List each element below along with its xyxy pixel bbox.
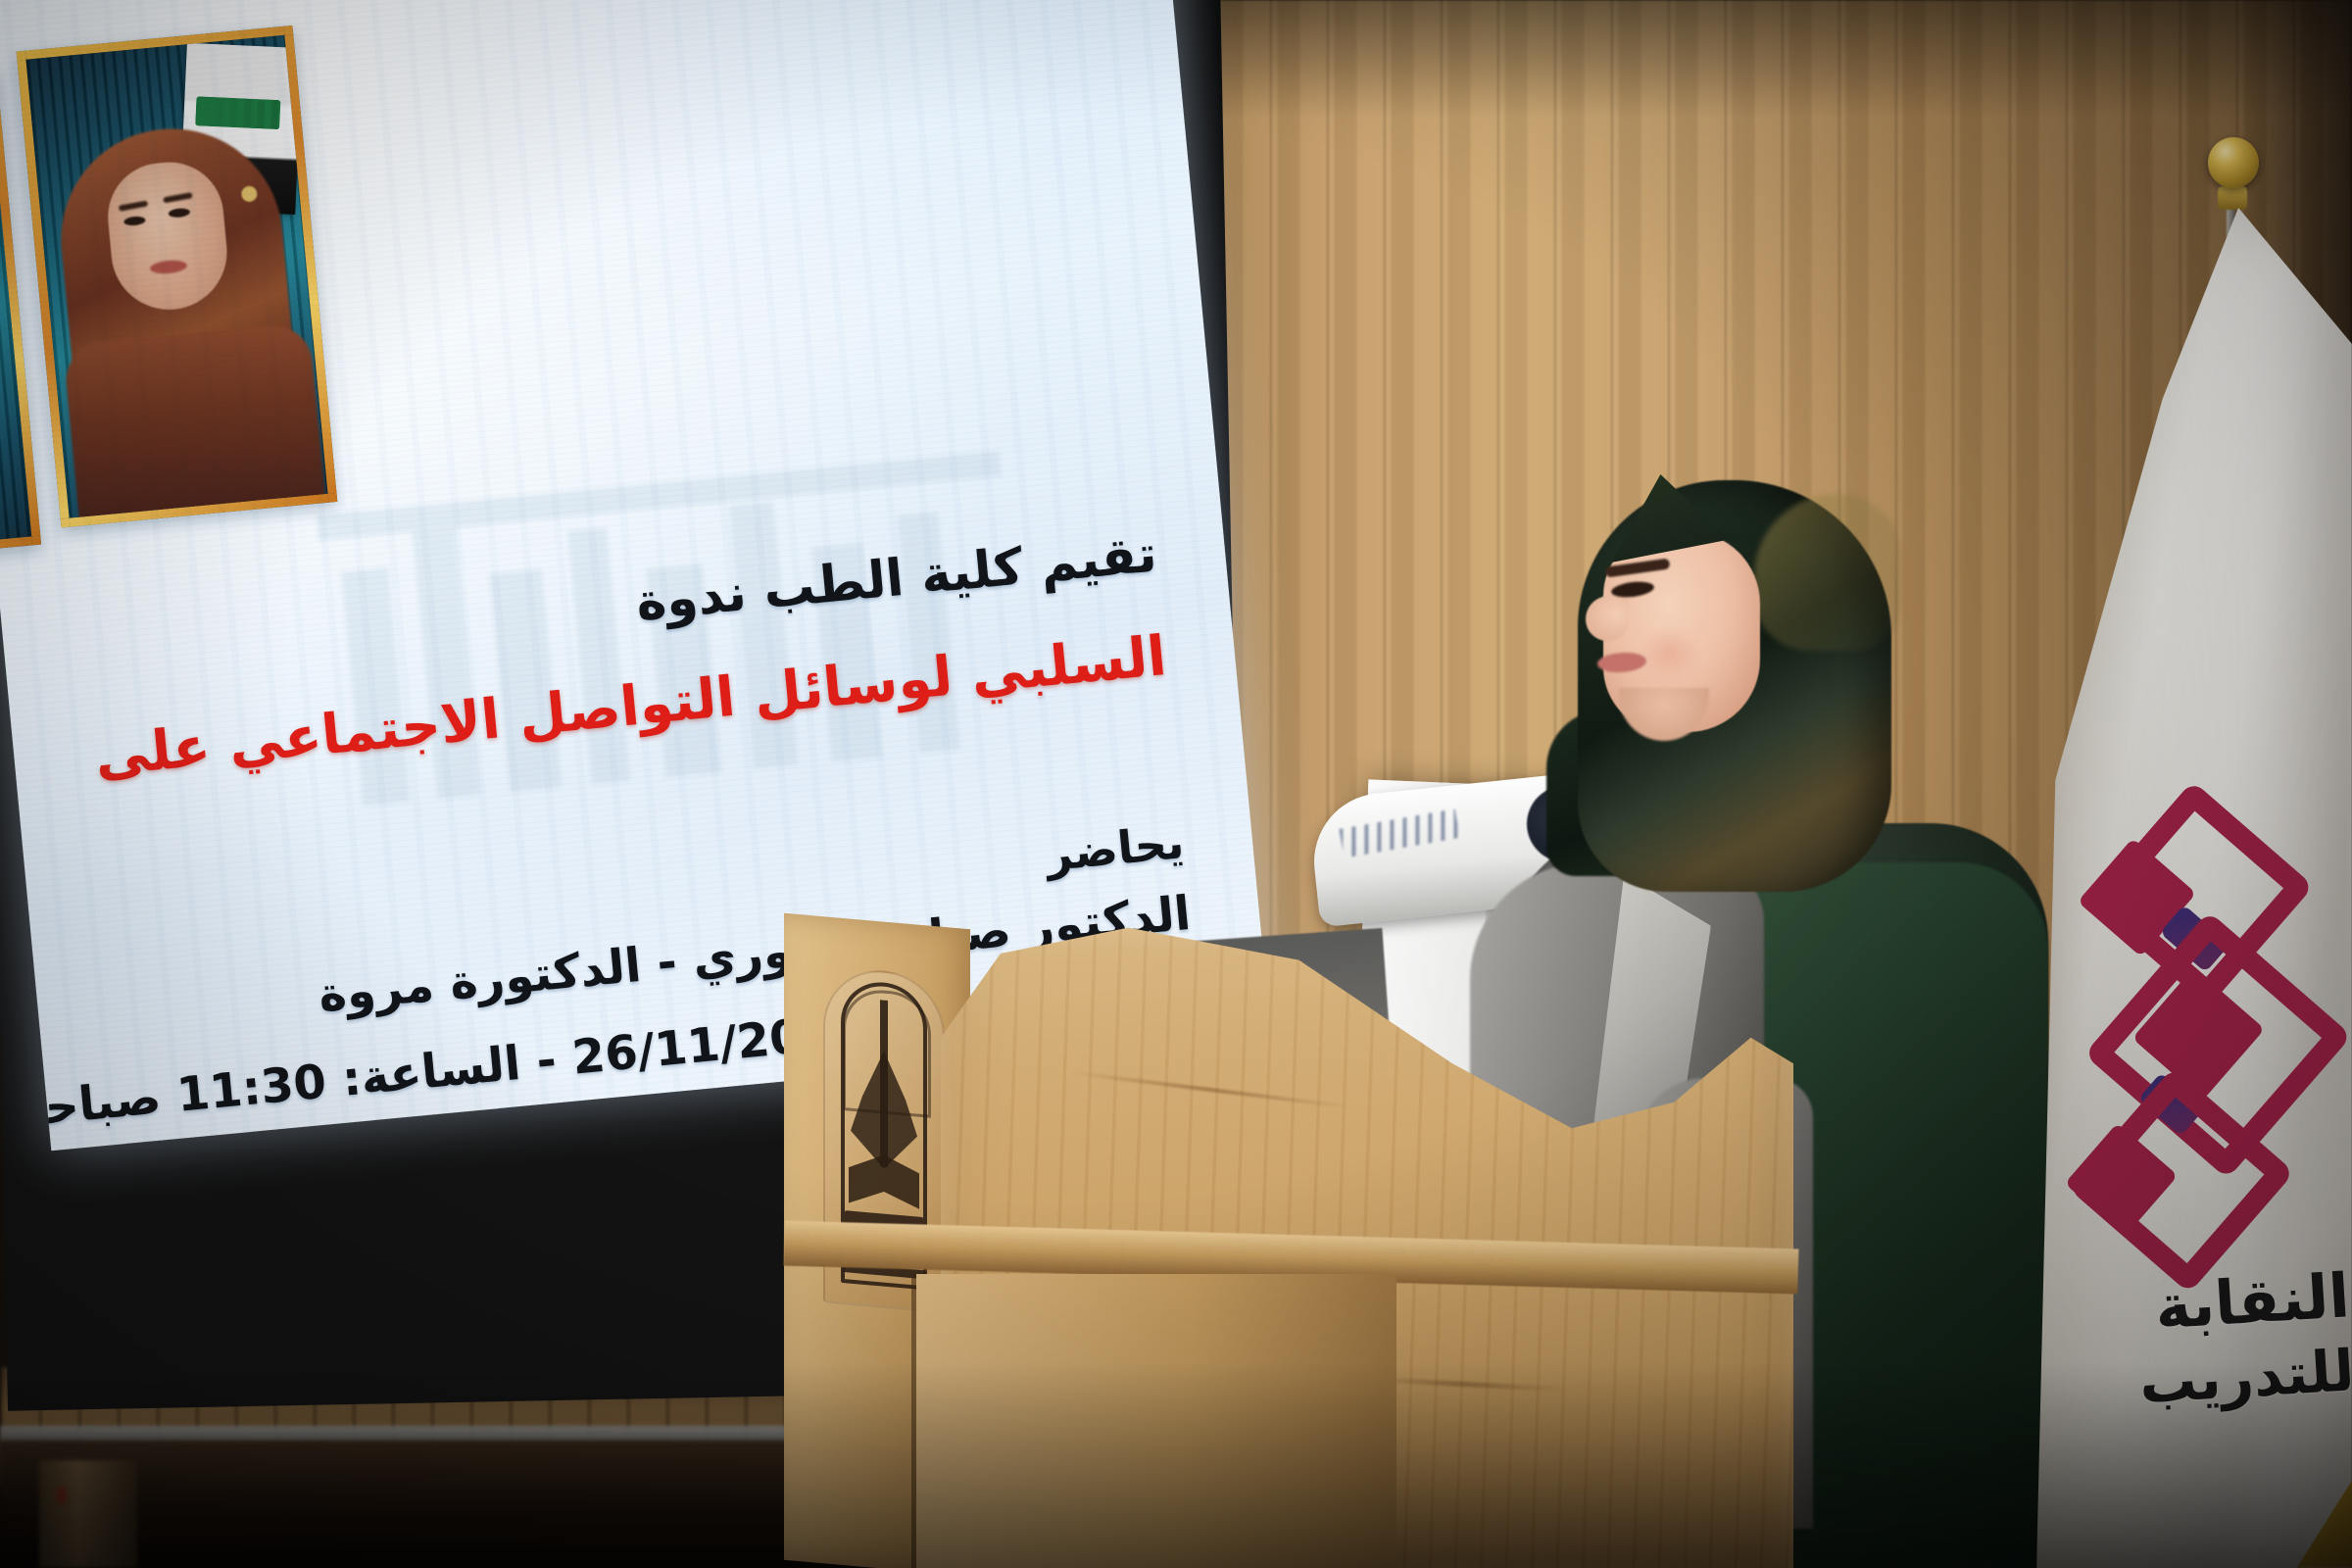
wall-top-shadow: [1156, 0, 2352, 118]
scene-root: السيد عميد كلية الطب الأنبياء (ع) الأستا…: [0, 0, 2352, 1568]
floor-equipment-box: [39, 1460, 137, 1568]
speaker-cheek: [1641, 627, 1699, 678]
syndicate-logo-icon: [2071, 796, 2344, 1233]
handwriting-marks: [1339, 808, 1459, 857]
banner-text-block: النقابة للتدريب: [2034, 1259, 2352, 1423]
speaker-head: [1568, 480, 1891, 804]
podium-base-column: [916, 1274, 1396, 1568]
flag-finial-ball-icon: [2208, 137, 2259, 188]
speaker-nose: [1586, 596, 1629, 641]
flag-pole-collar: [2218, 186, 2247, 210]
indicator-light-icon: [57, 1488, 67, 1503]
